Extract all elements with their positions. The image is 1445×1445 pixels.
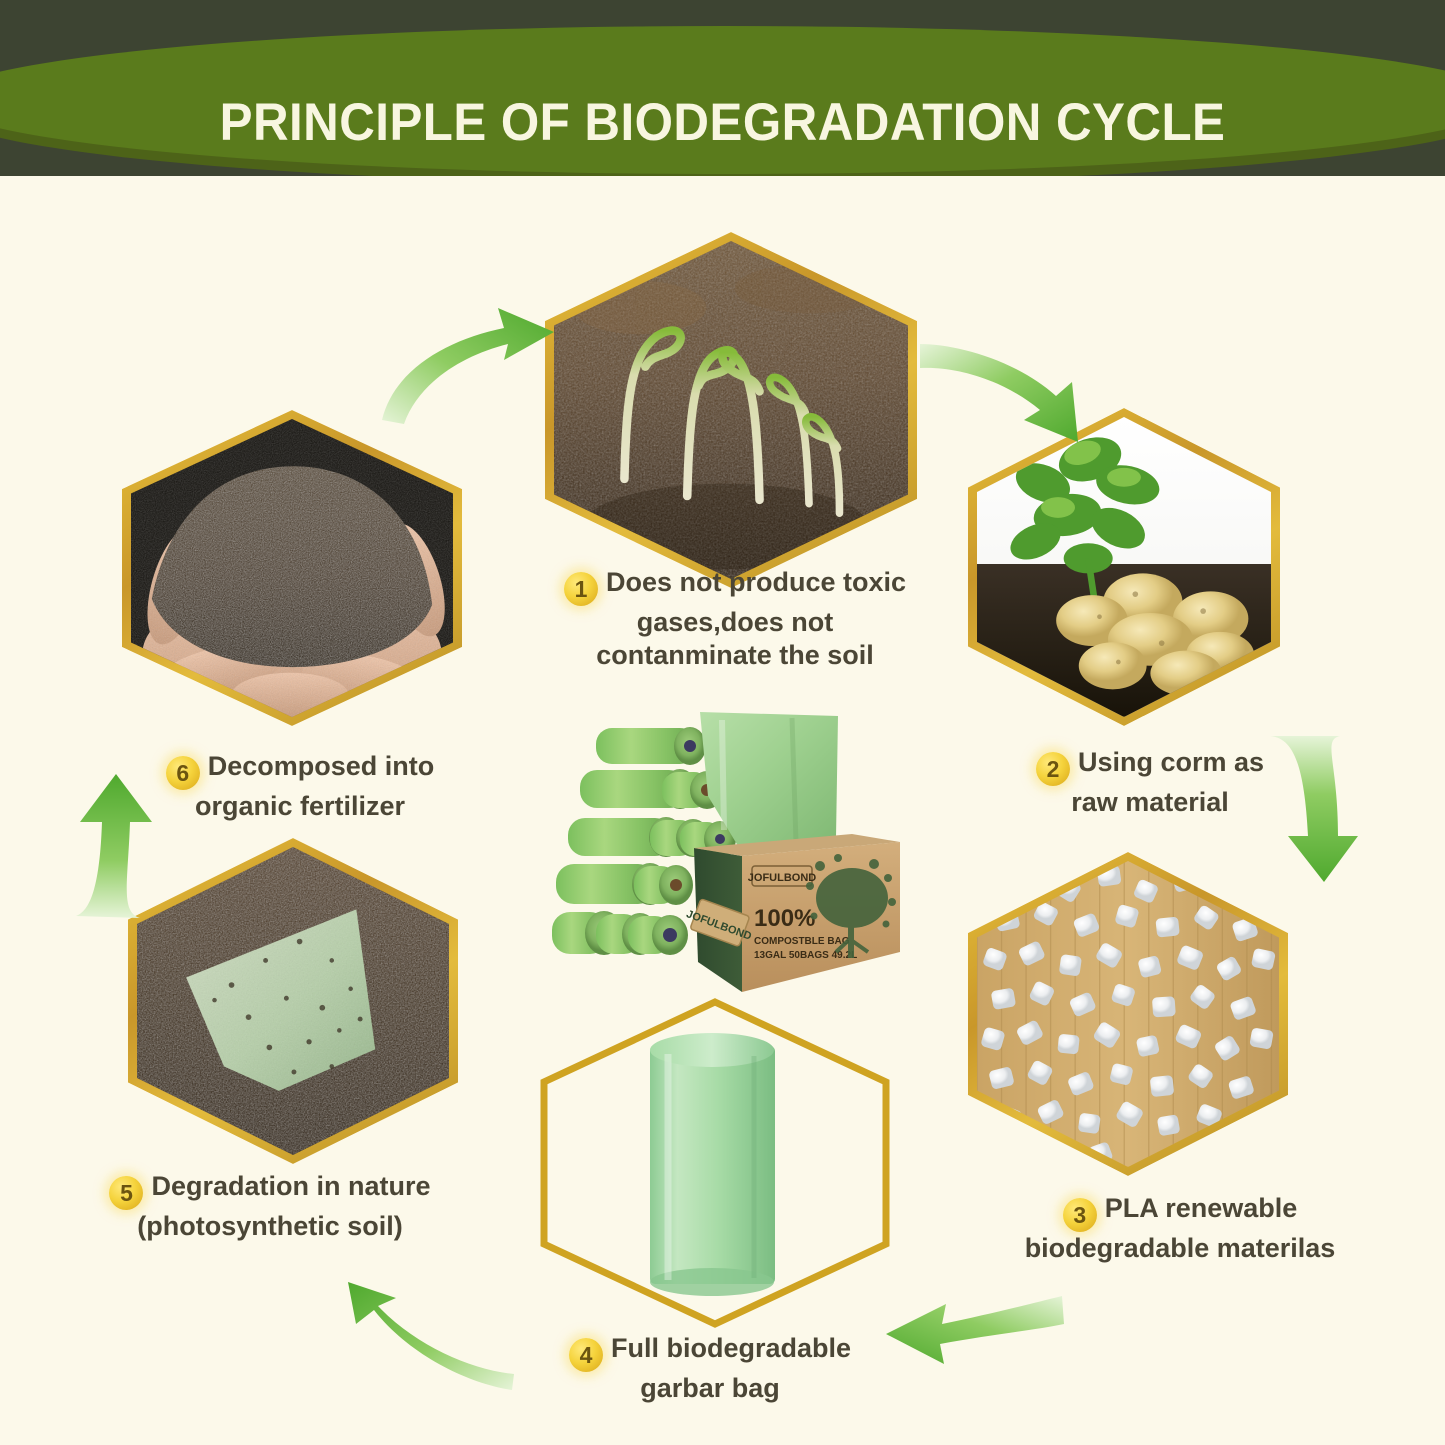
step-badge-1: 1 xyxy=(564,572,598,606)
hexagon-step-6[interactable] xyxy=(122,410,462,726)
step-badge-4: 4 xyxy=(569,1338,603,1372)
step-badge-3: 3 xyxy=(1063,1198,1097,1232)
hexagon-step-1[interactable] xyxy=(545,232,917,588)
arrow-5-to-6 xyxy=(62,770,180,920)
arrow-4-to-5 xyxy=(330,1280,516,1396)
caption-step-5: 5Degradation in nature (photosynthetic s… xyxy=(60,1170,480,1243)
caption-step-6-line-1: Decomposed into xyxy=(208,751,435,781)
svg-text:COMPOSTBLE BAG: COMPOSTBLE BAG xyxy=(754,936,850,947)
svg-text:13GAL 50BAGS 49.2L: 13GAL 50BAGS 49.2L xyxy=(754,950,857,961)
caption-step-5-line-1: Degradation in nature xyxy=(151,1171,430,1201)
caption-step-3: 3PLA renewable biodegradable materilas xyxy=(975,1192,1385,1265)
caption-step-3-line-1: PLA renewable xyxy=(1105,1193,1298,1223)
caption-step-2-line-2: raw material xyxy=(1071,787,1229,817)
caption-step-1: 1Does not produce toxic gases,does not c… xyxy=(520,566,950,672)
step-badge-5: 5 xyxy=(109,1176,143,1210)
arrow-6-to-1 xyxy=(376,298,566,426)
caption-step-4: 4Full biodegradable garbar bag xyxy=(500,1332,920,1405)
caption-step-5-line-2: (photosynthetic soil) xyxy=(137,1211,403,1241)
caption-step-2-line-1: Using corm as xyxy=(1078,747,1264,777)
arrow-1-to-2 xyxy=(916,338,1096,460)
caption-step-4-line-2: garbar bag xyxy=(640,1373,780,1403)
caption-step-1-line-1: Does not produce toxic xyxy=(606,567,906,597)
caption-step-1-line-2: gases,does not xyxy=(637,607,834,637)
step-badge-2: 2 xyxy=(1036,752,1070,786)
arrow-3-to-4 xyxy=(880,1290,1066,1396)
hexagon-step-3[interactable] xyxy=(968,852,1288,1176)
svg-text:JOFULBOND: JOFULBOND xyxy=(748,872,817,884)
product-image-compostable-bags: JOFULBOND JOFULBOND 100% COMPOSTBLE BAG … xyxy=(552,700,900,1000)
caption-step-4-line-1: Full biodegradable xyxy=(611,1333,851,1363)
infographic-page: PRINCIPLE OF BIODEGRADATION CYCLE xyxy=(0,0,1445,1445)
svg-text:100%: 100% xyxy=(754,905,815,932)
green-bag-roll-photo xyxy=(540,998,890,1328)
page-title: PRINCIPLE OF BIODEGRADATION CYCLE xyxy=(51,92,1395,153)
hexagon-step-4[interactable] xyxy=(540,998,890,1328)
caption-step-1-line-3: contanminate the soil xyxy=(596,640,874,670)
caption-step-6-line-2: organic fertilizer xyxy=(195,791,405,821)
caption-step-3-line-2: biodegradable materilas xyxy=(1025,1233,1336,1263)
arrow-2-to-3 xyxy=(1262,732,1392,888)
